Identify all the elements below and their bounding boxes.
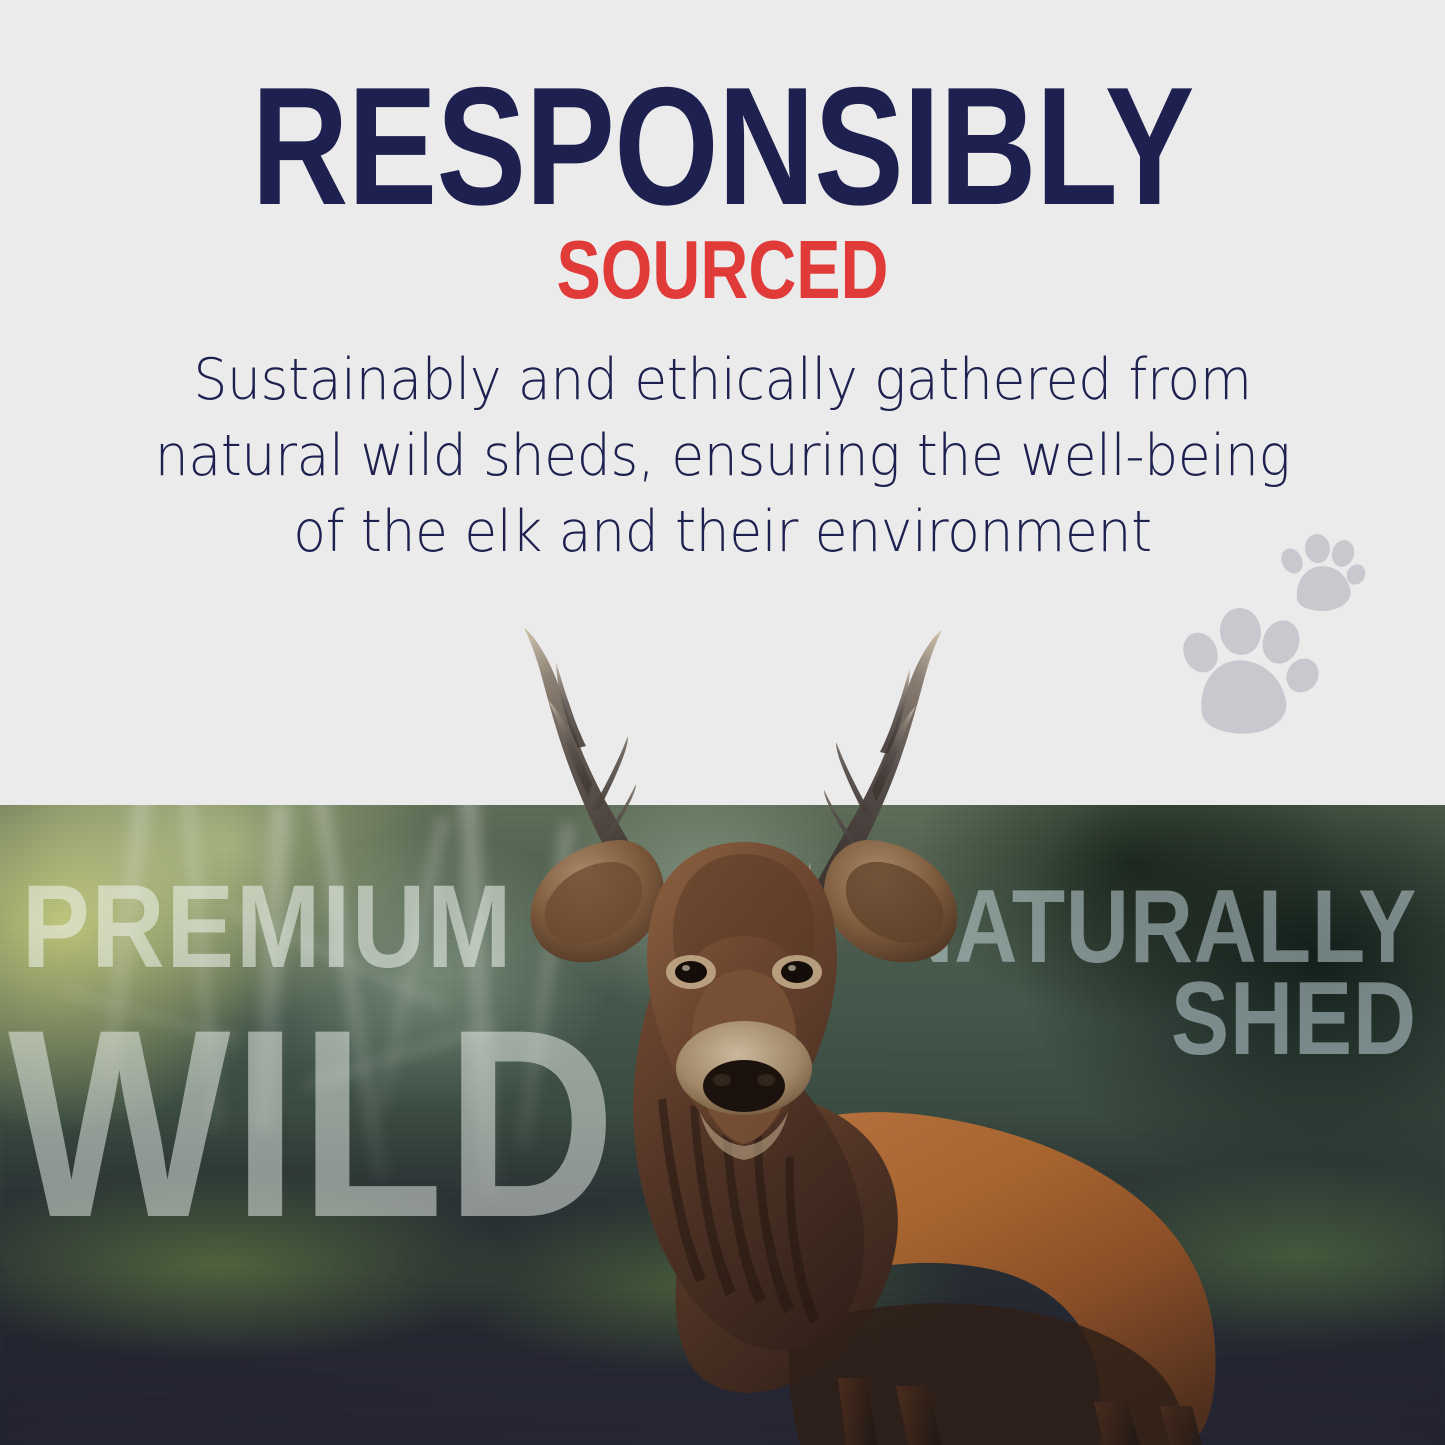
product-infographic-poster: PREMIUM WILD NATURALLY SHED RESPONSIBLY … [0,0,1445,1445]
paw-toe [1217,605,1264,657]
wordmark-wild: WILD [8,1000,618,1247]
wordmark-premium: PREMIUM [22,873,513,982]
paw-print-icon-large [1184,600,1324,734]
description-line-2: natural wild sheds, ensuring the well-be… [100,418,1346,494]
paw-toe [1304,533,1332,564]
page-subtitle: SOURCED [145,228,1301,311]
wordmark-shed: SHED [1171,972,1417,1068]
page-title: RESPONSIBLY [145,62,1301,230]
description-text: Sustainably and ethically gathered from … [100,342,1346,570]
description-line-1: Sustainably and ethically gathered from [100,342,1346,418]
description-line-3: of the elk and their environment [100,494,1346,570]
paw-toe [1277,545,1306,577]
